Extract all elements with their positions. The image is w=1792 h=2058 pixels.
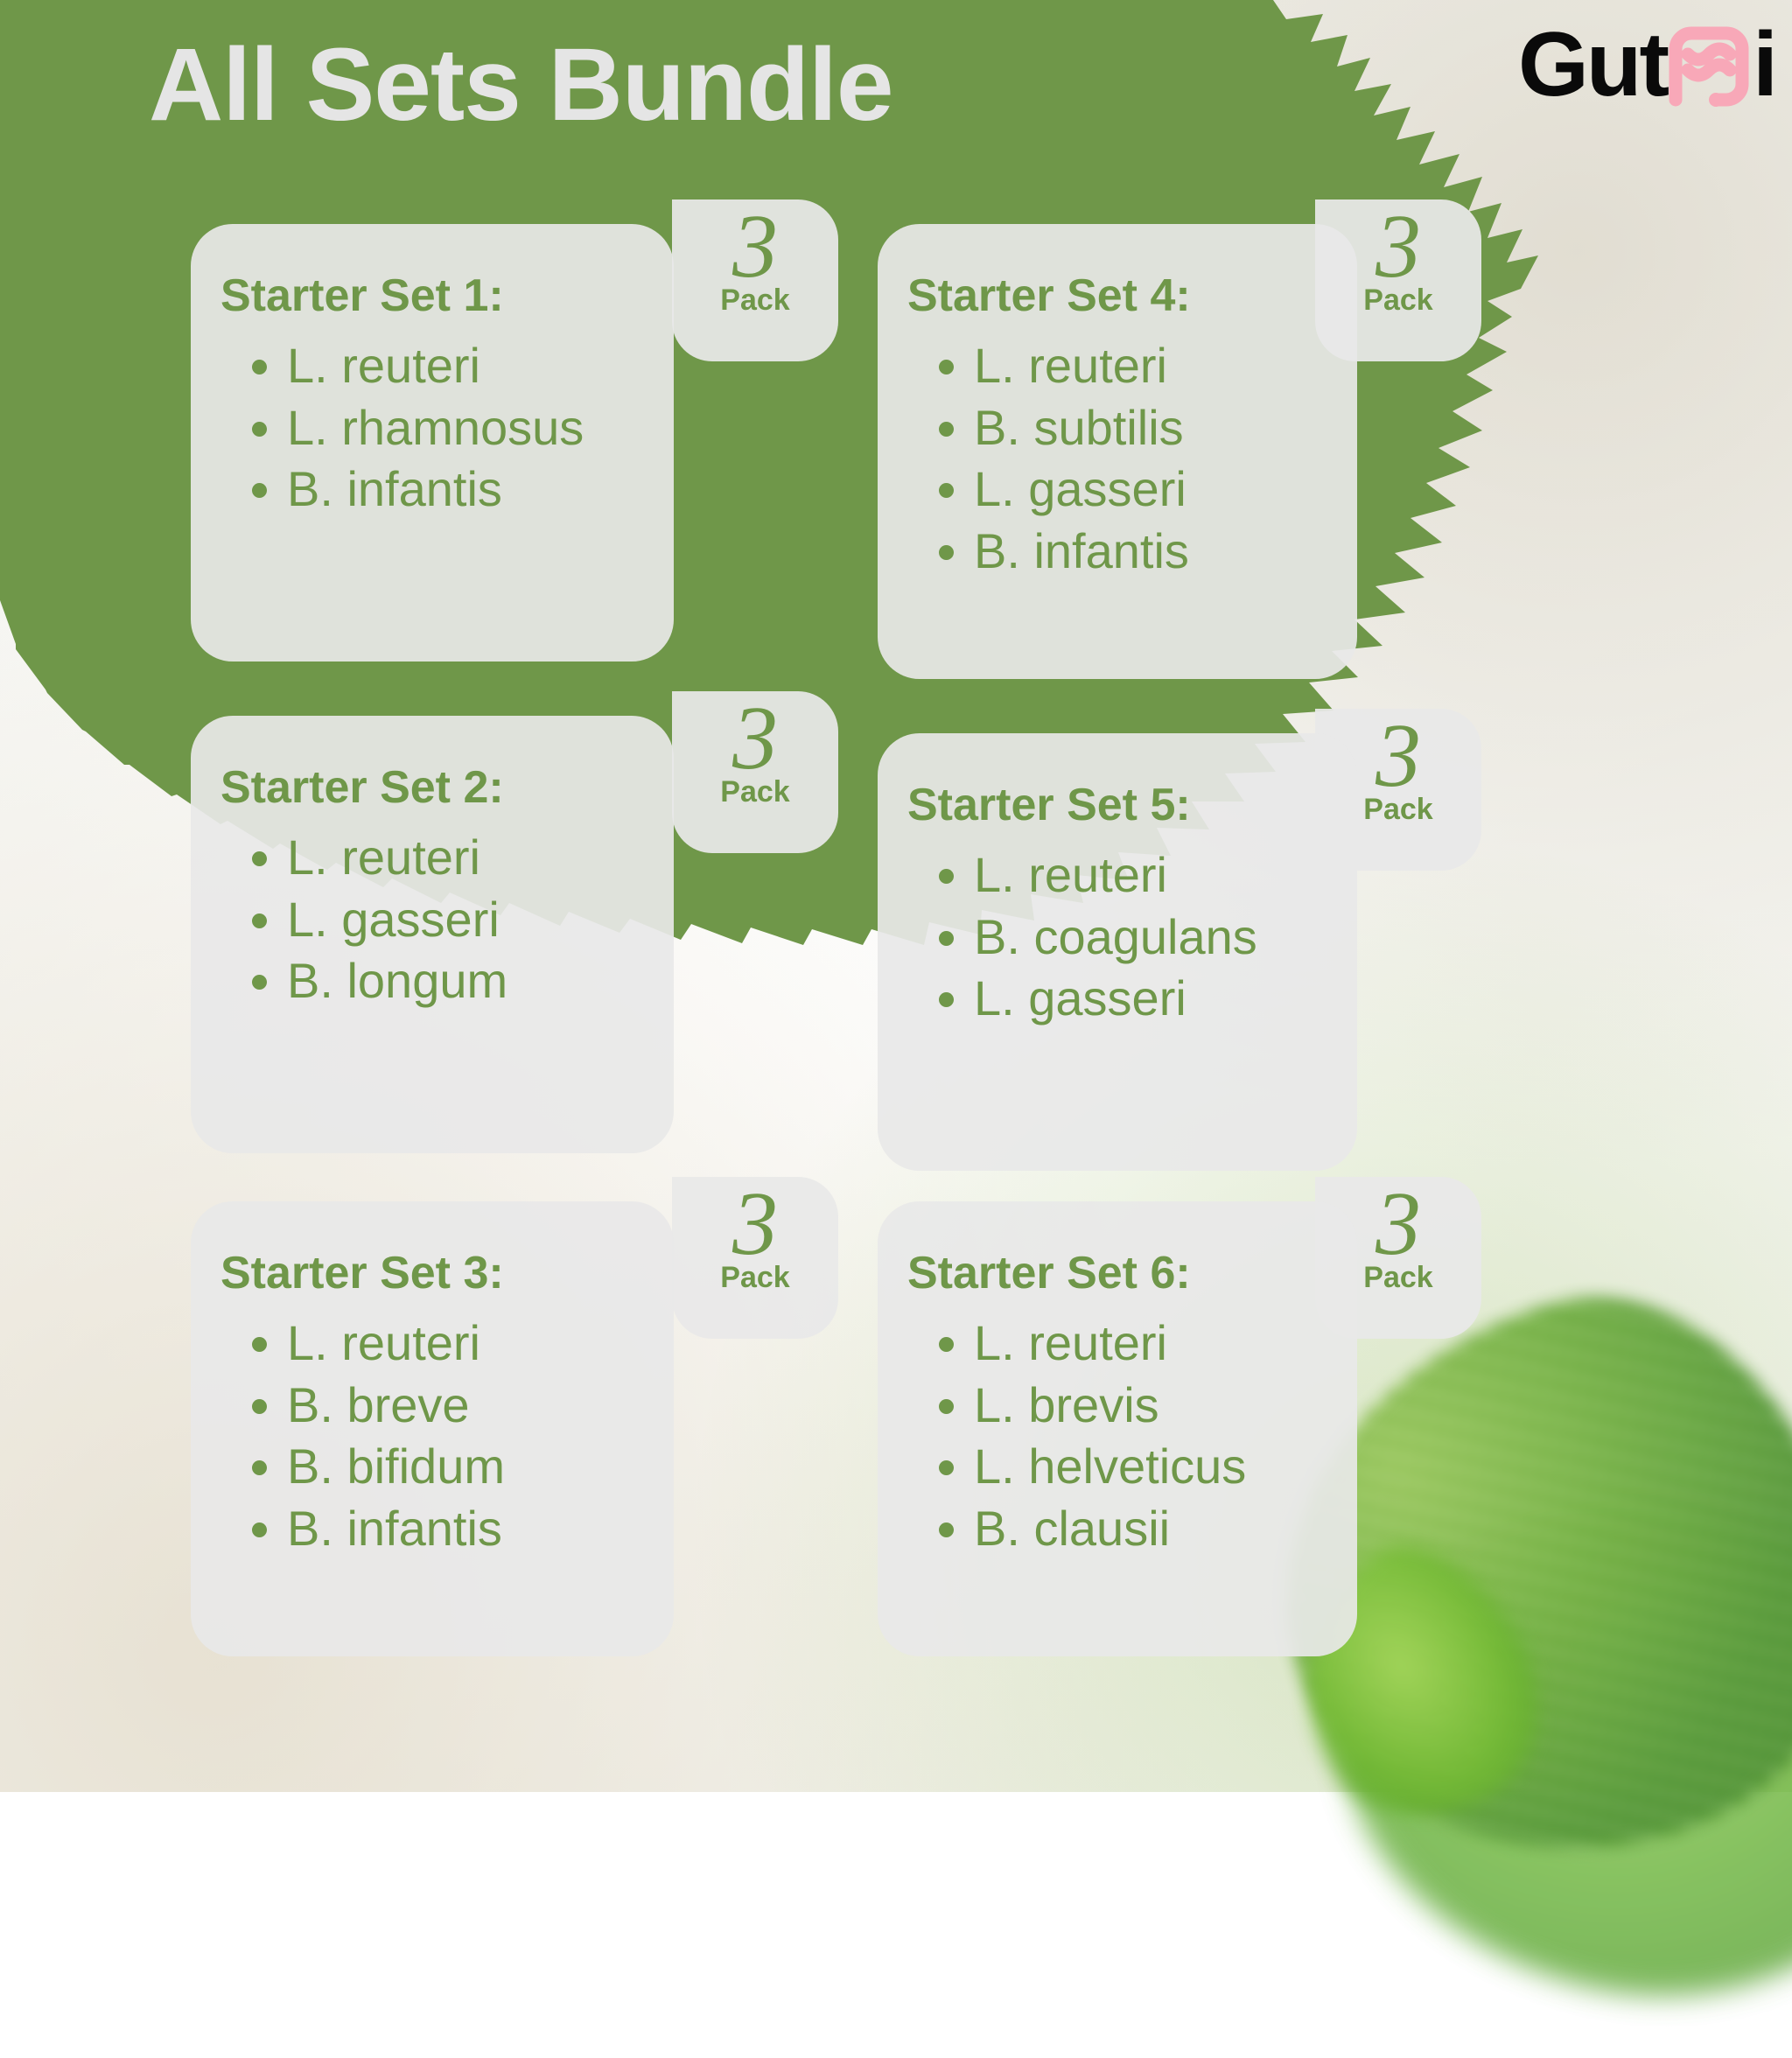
card-title-5: Starter Set 5: xyxy=(907,780,1322,830)
strain-list-2: L. reuteri L. gasseri B. longum xyxy=(220,827,639,1012)
strain-item: L. reuteri xyxy=(220,335,639,397)
strain-item: L. reuteri xyxy=(907,335,1322,397)
strain-item: L. gasseri xyxy=(907,968,1322,1030)
strain-item: B. breve xyxy=(220,1375,639,1437)
card-title-4: Starter Set 4: xyxy=(907,271,1322,321)
strain-item: L. reuteri xyxy=(907,1312,1322,1375)
card-body-2: Starter Set 2: L. reuteri L. gasseri B. … xyxy=(191,716,674,1153)
strain-list-6: L. reuteri L. brevis L. helveticus B. cl… xyxy=(907,1312,1322,1559)
pack-badge-1: 3 Pack xyxy=(672,199,838,361)
pack-count-1: 3 xyxy=(672,205,838,289)
strain-item: L. reuteri xyxy=(220,1312,639,1375)
pack-badge-3: 3 Pack xyxy=(672,1177,838,1339)
card-body-4: Starter Set 4: L. reuteri B. subtilis L.… xyxy=(878,224,1357,679)
strain-item: B. coagulans xyxy=(907,906,1322,969)
pack-count-2: 3 xyxy=(672,696,838,780)
strain-item: L. brevis xyxy=(907,1375,1322,1437)
strain-item: L. reuteri xyxy=(907,844,1322,906)
strain-item: B. infantis xyxy=(220,458,639,521)
strain-item: L. gasseri xyxy=(907,458,1322,521)
pack-label-1: Pack xyxy=(672,283,838,318)
card-body-6: Starter Set 6: L. reuteri L. brevis L. h… xyxy=(878,1201,1357,1656)
card-title-1: Starter Set 1: xyxy=(220,271,639,321)
starter-set-card-grid: 3 Pack Starter Set 1: L. reuteri L. rham… xyxy=(0,0,1792,1792)
card-title-3: Starter Set 3: xyxy=(220,1249,639,1298)
strain-list-5: L. reuteri B. coagulans L. gasseri xyxy=(907,844,1322,1030)
card-body-1: Starter Set 1: L. reuteri L. rhamnosus B… xyxy=(191,224,674,661)
strain-item: B. infantis xyxy=(220,1498,639,1560)
card-body-5: Starter Set 5: L. reuteri B. coagulans L… xyxy=(878,733,1357,1171)
strain-item: B. bifidum xyxy=(220,1436,639,1498)
strain-item: L. reuteri xyxy=(220,827,639,889)
strain-item: L. rhamnosus xyxy=(220,397,639,459)
strain-item: B. infantis xyxy=(907,521,1322,583)
card-title-2: Starter Set 2: xyxy=(220,763,639,813)
pack-badge-2: 3 Pack xyxy=(672,691,838,853)
strain-item: L. helveticus xyxy=(907,1436,1322,1498)
strain-list-3: L. reuteri B. breve B. bifidum B. infant… xyxy=(220,1312,639,1559)
card-title-6: Starter Set 6: xyxy=(907,1249,1322,1298)
card-body-3: Starter Set 3: L. reuteri B. breve B. bi… xyxy=(191,1201,674,1656)
strain-item: B. clausii xyxy=(907,1498,1322,1560)
strain-item: L. gasseri xyxy=(220,889,639,951)
strain-list-1: L. reuteri L. rhamnosus B. infantis xyxy=(220,335,639,521)
strain-list-4: L. reuteri B. subtilis L. gasseri B. inf… xyxy=(907,335,1322,582)
strain-item: B. subtilis xyxy=(907,397,1322,459)
pack-label-2: Pack xyxy=(672,775,838,809)
strain-item: B. longum xyxy=(220,950,639,1012)
pack-count-3: 3 xyxy=(672,1182,838,1266)
pack-label-3: Pack xyxy=(672,1261,838,1295)
